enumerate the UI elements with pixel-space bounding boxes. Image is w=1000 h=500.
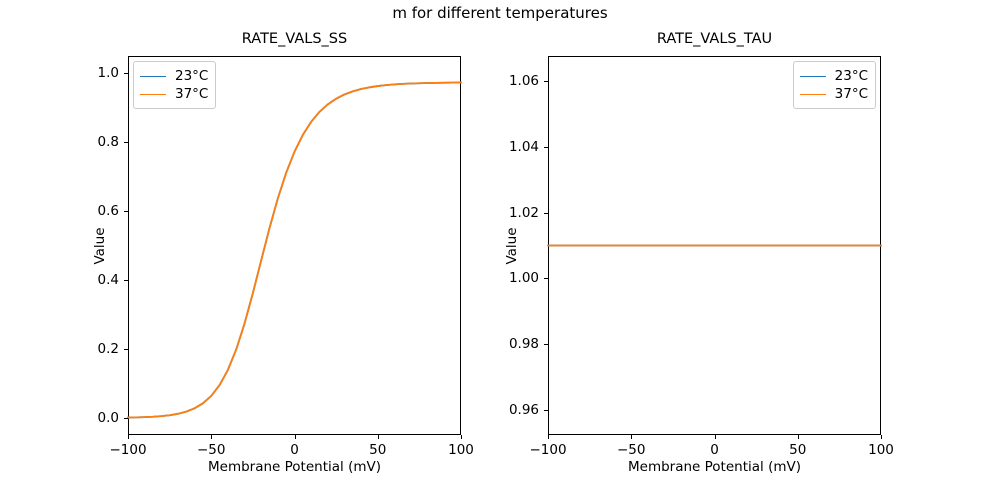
legend-tau[interactable]: 23°C37°C [793, 61, 876, 109]
x-tick-label: −100 [529, 442, 566, 458]
legend-swatch-icon [800, 76, 826, 77]
x-tick [881, 435, 882, 439]
x-tick [798, 435, 799, 439]
legend-entry[interactable]: 23°C [800, 67, 868, 85]
x-tick [715, 435, 716, 439]
x-tick [211, 435, 212, 439]
x-tick-label: 50 [789, 442, 806, 458]
y-tick [544, 410, 548, 411]
figure-suptitle: m for different temperatures [0, 4, 1000, 22]
plot-lines-ss [128, 56, 461, 435]
y-tick [124, 73, 128, 74]
y-tick [544, 81, 548, 82]
legend-ss[interactable]: 23°C37°C [133, 61, 216, 109]
y-tick [124, 349, 128, 350]
legend-swatch-icon [140, 94, 166, 95]
axes-rate-vals-ss: RATE_VALS_SS Membrane Potential (mV) Val… [128, 56, 461, 435]
x-tick-label: −50 [617, 442, 646, 458]
axes-title-tau: RATE_VALS_TAU [548, 31, 881, 47]
legend-label: 37°C [835, 86, 868, 102]
y-tick-label: 1.02 [509, 205, 539, 221]
x-tick [631, 435, 632, 439]
y-tick [124, 418, 128, 419]
legend-swatch-icon [800, 94, 826, 95]
y-tick-label: 0.8 [98, 134, 119, 150]
series-line-23C [128, 83, 461, 418]
y-tick-label: 0.96 [509, 402, 539, 418]
y-tick [544, 213, 548, 214]
series-line-37C [128, 83, 461, 418]
x-tick [128, 435, 129, 439]
x-tick [461, 435, 462, 439]
x-tick-label: −100 [109, 442, 146, 458]
legend-label: 23°C [835, 68, 868, 84]
y-tick-label: 1.04 [509, 139, 539, 155]
legend-label: 37°C [175, 86, 208, 102]
y-tick [544, 278, 548, 279]
matplotlib-figure: m for different temperatures RATE_VALS_S… [0, 0, 1000, 500]
y-tick [544, 147, 548, 148]
y-tick [124, 142, 128, 143]
y-tick [544, 344, 548, 345]
legend-entry[interactable]: 37°C [800, 85, 868, 103]
y-tick-label: 1.00 [509, 270, 539, 286]
x-tick [295, 435, 296, 439]
x-tick [378, 435, 379, 439]
axes-title-ss: RATE_VALS_SS [128, 31, 461, 47]
y-tick-label: 0.6 [98, 203, 119, 219]
y-tick-label: 0.2 [98, 341, 119, 357]
x-tick-label: 100 [868, 442, 894, 458]
legend-entry[interactable]: 23°C [140, 67, 208, 85]
x-tick-label: 0 [710, 442, 719, 458]
legend-entry[interactable]: 37°C [140, 85, 208, 103]
y-tick [124, 211, 128, 212]
plot-lines-tau [548, 56, 881, 435]
y-tick-label: 0.4 [98, 272, 119, 288]
y-tick-label: 1.06 [509, 73, 539, 89]
axes-rate-vals-tau: RATE_VALS_TAU Membrane Potential (mV) Va… [548, 56, 881, 435]
xlabel-tau: Membrane Potential (mV) [548, 459, 881, 475]
y-tick-label: 1.0 [98, 65, 119, 81]
x-tick-label: 100 [448, 442, 474, 458]
x-tick-label: 50 [369, 442, 386, 458]
x-tick [548, 435, 549, 439]
legend-label: 23°C [175, 68, 208, 84]
x-tick-label: −50 [197, 442, 226, 458]
xlabel-ss: Membrane Potential (mV) [128, 459, 461, 475]
y-tick-label: 0.0 [98, 410, 119, 426]
legend-swatch-icon [140, 76, 166, 77]
x-tick-label: 0 [290, 442, 299, 458]
y-tick-label: 0.98 [509, 336, 539, 352]
y-tick [124, 280, 128, 281]
